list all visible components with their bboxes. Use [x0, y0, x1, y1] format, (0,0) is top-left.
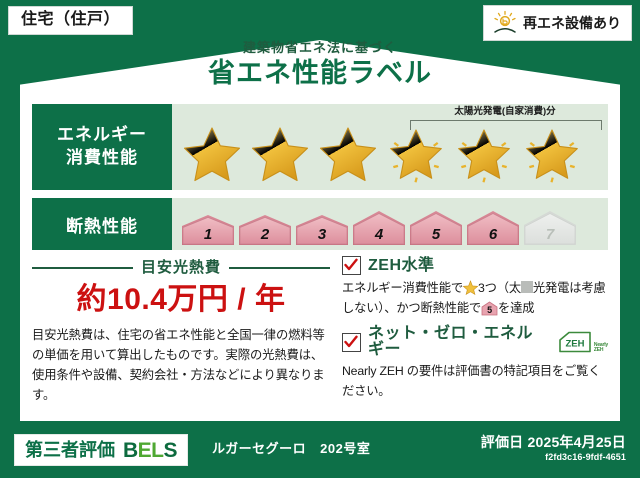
- bels-logo: 第三者評価 BELS: [14, 434, 188, 466]
- redacted-block: [521, 281, 533, 293]
- label-title: 建築物省エネ法に基づく 省エネ性能ラベル: [0, 41, 640, 91]
- star-icon-inline: [463, 280, 478, 295]
- title-subtitle: 建築物省エネ法に基づく: [0, 41, 640, 55]
- criterion-zeh-standard: ZEH水準 エネルギー消費性能で3つ（太光発電は考慮しない）、かつ断熱性能で5を…: [342, 256, 608, 318]
- insulation-level-house: 5: [408, 209, 464, 247]
- insulation-performance-row: 断熱性能: [32, 198, 608, 250]
- insulation-level-number: 7: [522, 227, 578, 242]
- star-rating: [178, 104, 604, 190]
- insulation-level-house: 6: [465, 209, 521, 247]
- lower-section: 目安光熱費 約10.4万円 / 年 目安光熱費は、住宅の省エネ性能と全国一律の燃…: [32, 256, 608, 412]
- property-identity: ルガーセグーロ202号室: [212, 442, 370, 455]
- evaluation-id: f2fd3c16-9fdf-4651: [481, 452, 626, 463]
- evaluation-date-label: 評価日: [481, 434, 524, 450]
- checkbox-checked-icon: [342, 256, 361, 275]
- bels-letter-el: EL: [138, 439, 164, 462]
- energy-performance-row: エネルギー 消費性能 太陽光発電(自家消費)分: [32, 104, 608, 190]
- insulation-badge-inline: 5: [481, 301, 498, 316]
- criterion-header: ネット・ゼロ・エネルギー ZEH Nearly ZEH: [342, 326, 608, 358]
- label-body: エネルギー 消費性能 太陽光発電(自家消費)分: [20, 96, 620, 421]
- energy-performance-label: 住宅（住戸） 再エネ設備あり 建築物省: [0, 0, 640, 478]
- insulation-level-house: 4: [351, 209, 407, 247]
- insulation-level-number: 5: [408, 227, 464, 242]
- insulation-performance-value: 1 2 3: [172, 198, 608, 250]
- criteria-block: ZEH水準 エネルギー消費性能で3つ（太光発電は考慮しない）、かつ断熱性能で5を…: [342, 256, 608, 410]
- evaluation-date-value: 2025年4月25日: [527, 434, 626, 450]
- insulation-level-number: 4: [351, 227, 407, 242]
- utility-cost-block: 目安光熱費 約10.4万円 / 年 目安光熱費は、住宅の省エネ性能と全国一律の燃…: [32, 256, 330, 406]
- star-icon: [314, 120, 382, 188]
- criterion-title: ネット・ゼロ・エネルギー: [368, 326, 546, 358]
- insulation-badge-number: 5: [481, 304, 498, 316]
- criterion-body-part3: を達成: [498, 301, 534, 315]
- footer-band: 第三者評価 BELS ルガーセグーロ202号室 評価日 2025年4月25日 f…: [0, 424, 640, 478]
- sun-icon: [492, 10, 518, 36]
- bels-japanese-label: 第三者評価: [25, 441, 115, 459]
- rule-left: [32, 267, 133, 269]
- zeh-logo-icon: ZEH Nearly ZEH: [558, 331, 608, 353]
- bels-letter-s: S: [164, 439, 178, 462]
- criterion-body: Nearly ZEH の要件は評価書の特記項目をご覧ください。: [342, 362, 608, 401]
- criterion-body-star-text: 3つ（太: [478, 281, 521, 295]
- evaluation-info: 評価日 2025年4月25日 f2fd3c16-9fdf-4651: [481, 434, 626, 463]
- header-band: 住宅（住戸） 再エネ設備あり 建築物省: [0, 0, 640, 104]
- energy-performance-key: エネルギー 消費性能: [32, 104, 172, 190]
- utility-cost-title: 目安光熱費: [141, 260, 221, 275]
- svg-text:ZEH: ZEH: [565, 339, 584, 350]
- insulation-scale: 1 2 3: [180, 198, 604, 250]
- star-icon: [178, 120, 246, 188]
- star-icon-solar: [382, 120, 450, 188]
- checkbox-checked-icon: [342, 333, 361, 352]
- room-number: 202号室: [320, 441, 370, 456]
- insulation-level-number: 3: [294, 227, 350, 242]
- renewable-equipment-tag: 再エネ設備あり: [483, 5, 632, 41]
- zeh-logo-sub: Nearly ZEH: [594, 343, 608, 354]
- star-icon-solar: [518, 120, 586, 188]
- utility-cost-heading: 目安光熱費: [32, 260, 330, 275]
- insulation-level-number: 1: [180, 227, 236, 242]
- insulation-level-house: 1: [180, 213, 236, 247]
- star-icon-solar: [450, 120, 518, 188]
- bels-letter-b: B: [123, 439, 138, 462]
- insulation-level-house: 2: [237, 213, 293, 247]
- criterion-body: エネルギー消費性能で3つ（太光発電は考慮しない）、かつ断熱性能で5を達成: [342, 279, 608, 318]
- insulation-level-house-inactive: 7: [522, 209, 578, 247]
- renewable-tag-label: 再エネ設備あり: [523, 16, 621, 30]
- evaluation-date-line: 評価日 2025年4月25日: [481, 434, 626, 451]
- insulation-level-number: 6: [465, 227, 521, 242]
- energy-key-line2: 消費性能: [57, 147, 147, 170]
- insulation-level-house: 3: [294, 213, 350, 247]
- criterion-header: ZEH水準: [342, 256, 608, 275]
- rule-right: [229, 267, 330, 269]
- zeh-logo-sub2: ZEH: [594, 347, 603, 353]
- insulation-level-number: 2: [237, 227, 293, 242]
- insulation-performance-key: 断熱性能: [32, 198, 172, 250]
- bels-wordmark: BELS: [123, 440, 177, 461]
- criterion-net-zero-energy: ネット・ゼロ・エネルギー ZEH Nearly ZEH: [342, 326, 608, 401]
- energy-key-line1: エネルギー: [57, 124, 147, 147]
- house-type-tag: 住宅（住戸）: [8, 6, 133, 35]
- title-main: 省エネ性能ラベル: [0, 57, 640, 91]
- utility-cost-amount: 約10.4万円 / 年: [32, 283, 330, 316]
- property-name: ルガーセグーロ: [212, 441, 306, 456]
- criterion-body-part1: エネルギー消費性能で: [342, 281, 463, 295]
- star-icon: [246, 120, 314, 188]
- criterion-title: ZEH水準: [368, 258, 435, 274]
- energy-performance-value: 太陽光発電(自家消費)分: [172, 104, 608, 190]
- utility-cost-note: 目安光熱費は、住宅の省エネ性能と全国一律の燃料等の単価を用いて算出したものです。…: [32, 326, 330, 406]
